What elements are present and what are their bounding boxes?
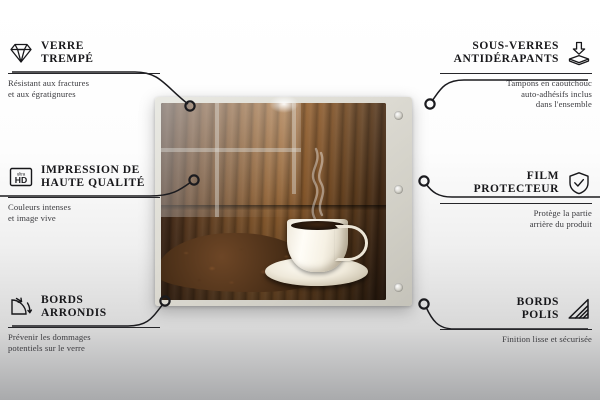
feature-header: ultra HD IMPRESSION DE HAUTE QUALITÉ [8, 160, 160, 194]
feature-title: IMPRESSION DE HAUTE QUALITÉ [41, 164, 160, 189]
feature-verre-trempe: VERRE TREMPÉ Résistant aux fractures et … [8, 36, 160, 99]
shield-check-icon [566, 170, 592, 196]
product-artwork [161, 103, 386, 300]
screw-hole [394, 111, 403, 120]
feature-header: FILM PROTECTEUR [440, 166, 592, 200]
svg-text:HD: HD [15, 175, 27, 185]
feature-header: SOUS-VERRES ANTIDÉRAPANTS [440, 36, 592, 70]
feature-title: FILM PROTECTEUR [440, 170, 559, 195]
reflection-mullion [215, 103, 219, 217]
ultra-hd-icon: ultra HD [8, 164, 34, 190]
feature-description: Protège la partie arrière du produit [440, 208, 592, 229]
feature-impression-hd: ultra HD IMPRESSION DE HAUTE QUALITÉ Cou… [8, 160, 160, 223]
screw-hole [394, 185, 403, 194]
reflection-mullion [161, 148, 301, 152]
divider [8, 327, 160, 328]
divider [440, 203, 592, 204]
divider [440, 329, 592, 330]
feature-description: Prévenir les dommages potentiels sur le … [8, 332, 160, 353]
infographic-stage: VERRE TREMPÉ Résistant aux fractures et … [0, 0, 600, 400]
feature-title: VERRE TREMPÉ [41, 40, 160, 65]
hatched-triangle-icon [566, 296, 592, 322]
feature-description: Couleurs intenses et image vive [8, 202, 160, 223]
feature-description: Résistant aux fractures et aux égratignu… [8, 78, 160, 99]
feature-title: BORDS ARRONDIS [41, 294, 160, 319]
product-image [155, 97, 412, 306]
press-pad-icon [566, 40, 592, 66]
screw-hole [394, 283, 403, 292]
feature-film-protecteur: FILM PROTECTEUR Protège la partie arrièr… [440, 166, 592, 229]
diamond-gem-icon [8, 40, 34, 66]
divider [8, 197, 160, 198]
window-reflection [161, 103, 301, 217]
feature-header: BORDS ARRONDIS [8, 290, 160, 324]
steam-icon [291, 137, 337, 221]
feature-description: Tampons en caoutchouc auto-adhésifs incl… [440, 78, 592, 110]
feature-title: BORDS POLIS [440, 296, 559, 321]
feature-bords-arrondis: BORDS ARRONDIS Prévenir les dommages pot… [8, 290, 160, 353]
glass-sparkle-icon [269, 95, 299, 113]
feature-sous-verres-antiderapants: SOUS-VERRES ANTIDÉRAPANTS Tampons en cao… [440, 36, 592, 110]
divider [8, 73, 160, 74]
feature-title: SOUS-VERRES ANTIDÉRAPANTS [440, 40, 559, 65]
divider [440, 73, 592, 74]
feature-description: Finition lisse et sécurisée [440, 334, 592, 345]
rounded-corner-icon [8, 294, 34, 320]
feature-header: VERRE TREMPÉ [8, 36, 160, 70]
feature-header: BORDS POLIS [440, 292, 592, 326]
feature-bords-polis: BORDS POLIS Finition lisse et sécurisée [440, 292, 592, 345]
